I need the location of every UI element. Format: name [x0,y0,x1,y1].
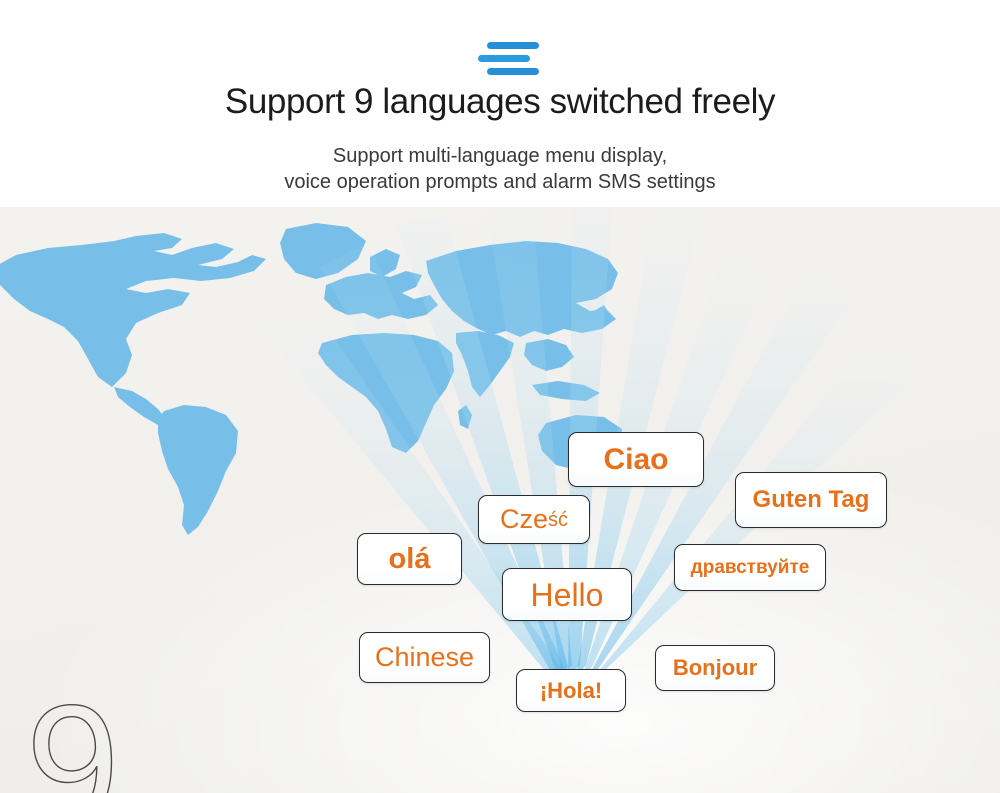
language-bubble-label: Hello [531,579,604,611]
language-bubble-chinese[interactable]: Chinese [359,632,490,683]
align-lines-icon-bar-bottom [487,68,539,75]
page-subtitle: Support multi-language menu display, voi… [0,143,1000,195]
align-lines-icon-bar-top [487,42,539,49]
language-bubble-label: Ciao [603,445,668,475]
language-bubble-label: Bonjour [673,657,757,679]
language-bubble-label: olá [389,545,431,574]
page-subtitle-line-1: Support multi-language menu display, [0,143,1000,169]
language-bubble-hello[interactable]: Hello [502,568,632,621]
language-bubble-label-diacritic: ść [548,510,568,530]
align-lines-icon [0,40,1000,76]
page-subtitle-line-2: voice operation prompts and alarm SMS se… [0,169,1000,195]
language-bubble-hola[interactable]: ¡Hola! [516,669,626,712]
language-bubble-label: дравствуйте [691,558,810,577]
language-bubble-label: Cze [500,506,548,533]
illustration-panel: Ciao Guten Tag Cześć дравствуйте olá Hel… [0,207,1000,793]
language-count-number: 9 [26,705,146,793]
language-bubble-guten-tag[interactable]: Guten Tag [735,472,887,528]
header-section: Support 9 languages switched freely Supp… [0,0,1000,207]
alarm-panel-device: 1 2 3 4 5 6 7 8 9 [405,787,1000,793]
language-bubble-label: Chinese [375,644,474,671]
align-lines-icon-bar-middle [478,55,530,62]
language-bubble-label: Guten Tag [753,488,870,512]
language-bubble-czesc[interactable]: Cześć [478,495,590,544]
device-beam-glow [595,787,745,793]
page-root: Support 9 languages switched freely Supp… [0,0,1000,793]
language-bubble-ciao[interactable]: Ciao [568,432,704,487]
language-bubble-bonjour[interactable]: Bonjour [655,645,775,691]
language-bubble-zdravstvuyte[interactable]: дравствуйте [674,544,826,591]
language-bubble-ola[interactable]: olá [357,533,462,585]
page-title: Support 9 languages switched freely [0,82,1000,122]
language-bubble-label: ¡Hola! [540,680,602,702]
